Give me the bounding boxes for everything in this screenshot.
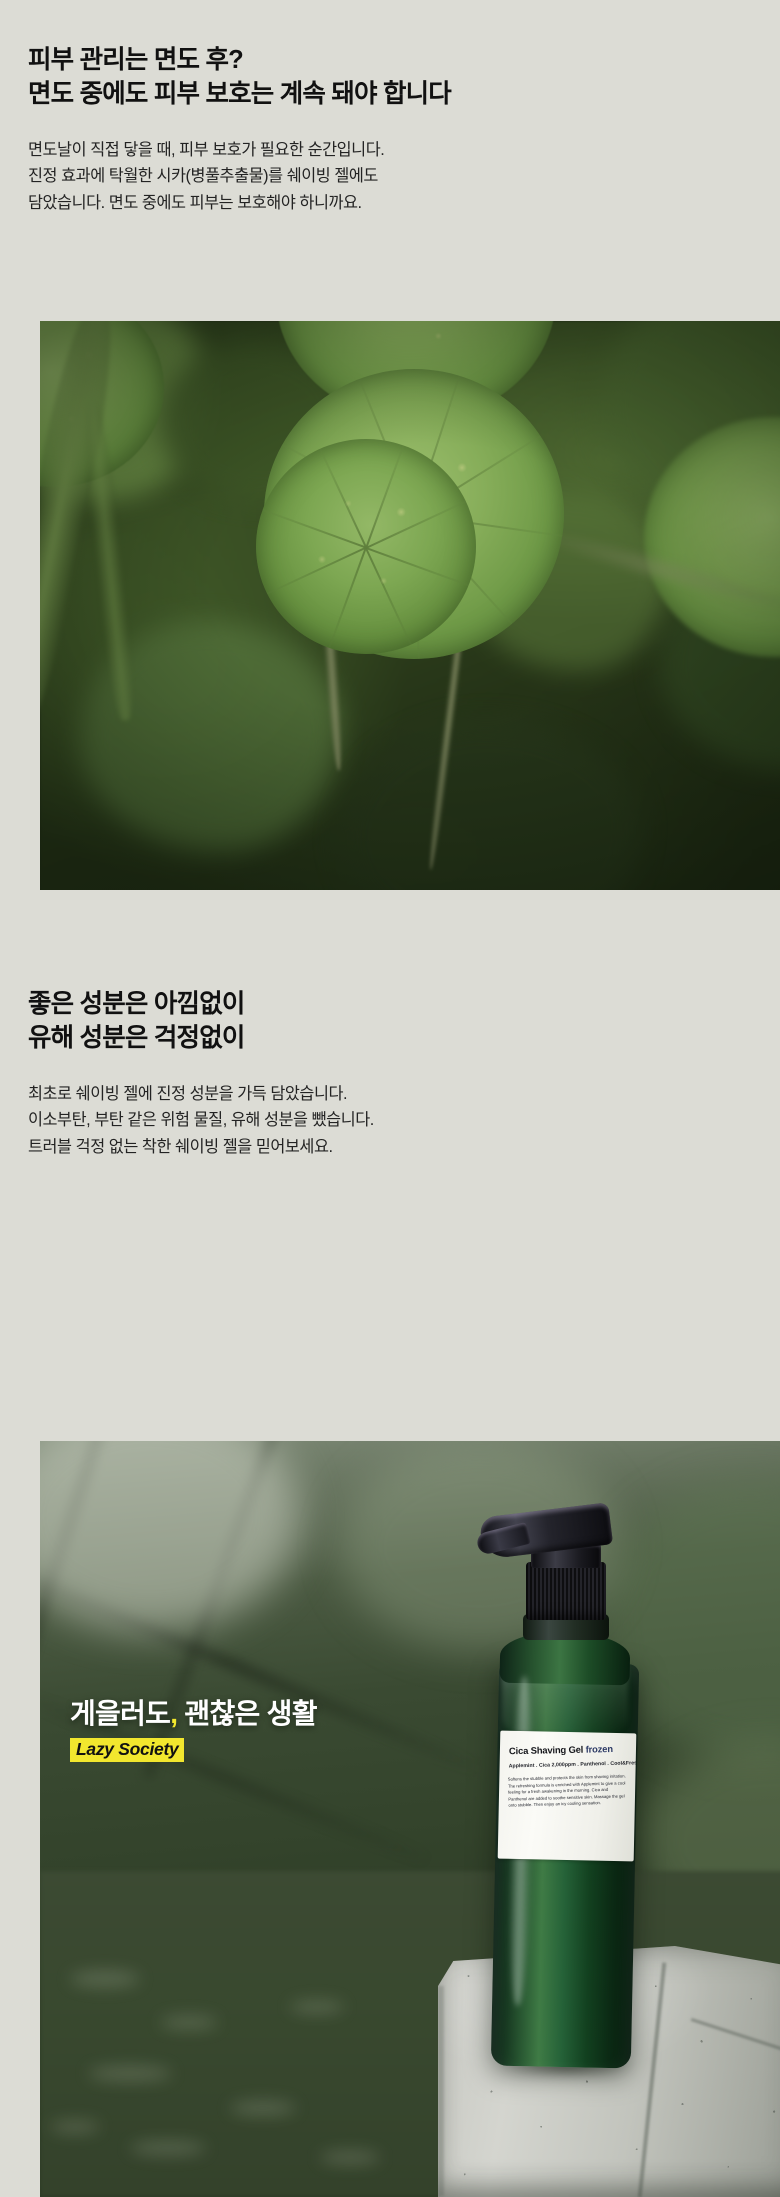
water-reflection bbox=[88, 2066, 172, 2081]
product-label-title: Cica Shaving Gel frozen bbox=[509, 1743, 627, 1756]
water-reflection bbox=[160, 2016, 218, 2029]
hero-text-overlay: 게을러도, 괜찮은 생활 Lazy Society bbox=[70, 1696, 490, 1762]
hero-tagline-part2: 괜찮은 생활 bbox=[177, 1698, 316, 1729]
leaf-spots bbox=[256, 439, 476, 654]
product-label-description: Softens the stubble and protects the ski… bbox=[508, 1773, 627, 1809]
intro-body: 면도날이 직접 닿을 때, 피부 보호가 필요한 순간입니다. 진정 효과에 탁… bbox=[28, 137, 780, 217]
product-label: Cica Shaving Gel frozen Applemint . Cica… bbox=[498, 1731, 637, 1862]
centella-leaf-secondary bbox=[256, 439, 476, 654]
product-label-subtitle: Applemint . Cica 2,000ppm . Panthenol . … bbox=[509, 1761, 627, 1770]
water-reflection bbox=[50, 2121, 100, 2133]
intro-heading: 피부 관리는 면도 후? 면도 중에도 피부 보호는 계속 돼야 합니다 bbox=[28, 44, 780, 112]
hero-tagline: 게을러도, 괜찮은 생활 bbox=[70, 1696, 490, 1731]
product-variant-text: frozen bbox=[586, 1743, 613, 1755]
brand-badge-label: Lazy Society bbox=[76, 1739, 178, 1759]
water-reflection bbox=[70, 1971, 140, 1987]
ingredients-heading: 좋은 성분은 아낌없이 유해 성분은 걱정없이 bbox=[28, 988, 780, 1056]
intro-spacer bbox=[28, 112, 780, 137]
product-name-text: Cica Shaving Gel bbox=[509, 1744, 586, 1757]
hero-tagline-part1: 게을러도 bbox=[70, 1698, 170, 1729]
stone-crack bbox=[438, 1986, 444, 2196]
water-reflection bbox=[290, 2001, 344, 2013]
ingredients-spacer bbox=[28, 1056, 780, 1081]
pump-collar bbox=[526, 1562, 606, 1620]
ingredients-text-section: 좋은 성분은 아낌없이 유해 성분은 걱정없이 최초로 쉐이빙 젤에 진정 성분… bbox=[0, 890, 780, 1425]
brand-badge: Lazy Society bbox=[70, 1738, 184, 1762]
water-reflection bbox=[130, 2141, 206, 2155]
product-detail-page: 피부 관리는 면도 후? 면도 중에도 피부 보호는 계속 돼야 합니다 면도날… bbox=[0, 0, 780, 2181]
water-reflection bbox=[320, 2151, 380, 2164]
water-reflection bbox=[230, 2101, 296, 2115]
ingredients-body: 최초로 쉐이빙 젤에 진정 성분을 가득 담았습니다. 이소부탄, 부탄 같은 … bbox=[28, 1081, 780, 1161]
hero-product-photo: Cica Shaving Gel frozen Applemint . Cica… bbox=[40, 1441, 780, 2197]
centella-leaf-photo bbox=[40, 321, 780, 906]
intro-text-section: 피부 관리는 면도 후? 면도 중에도 피부 보호는 계속 돼야 합니다 면도날… bbox=[0, 0, 780, 305]
